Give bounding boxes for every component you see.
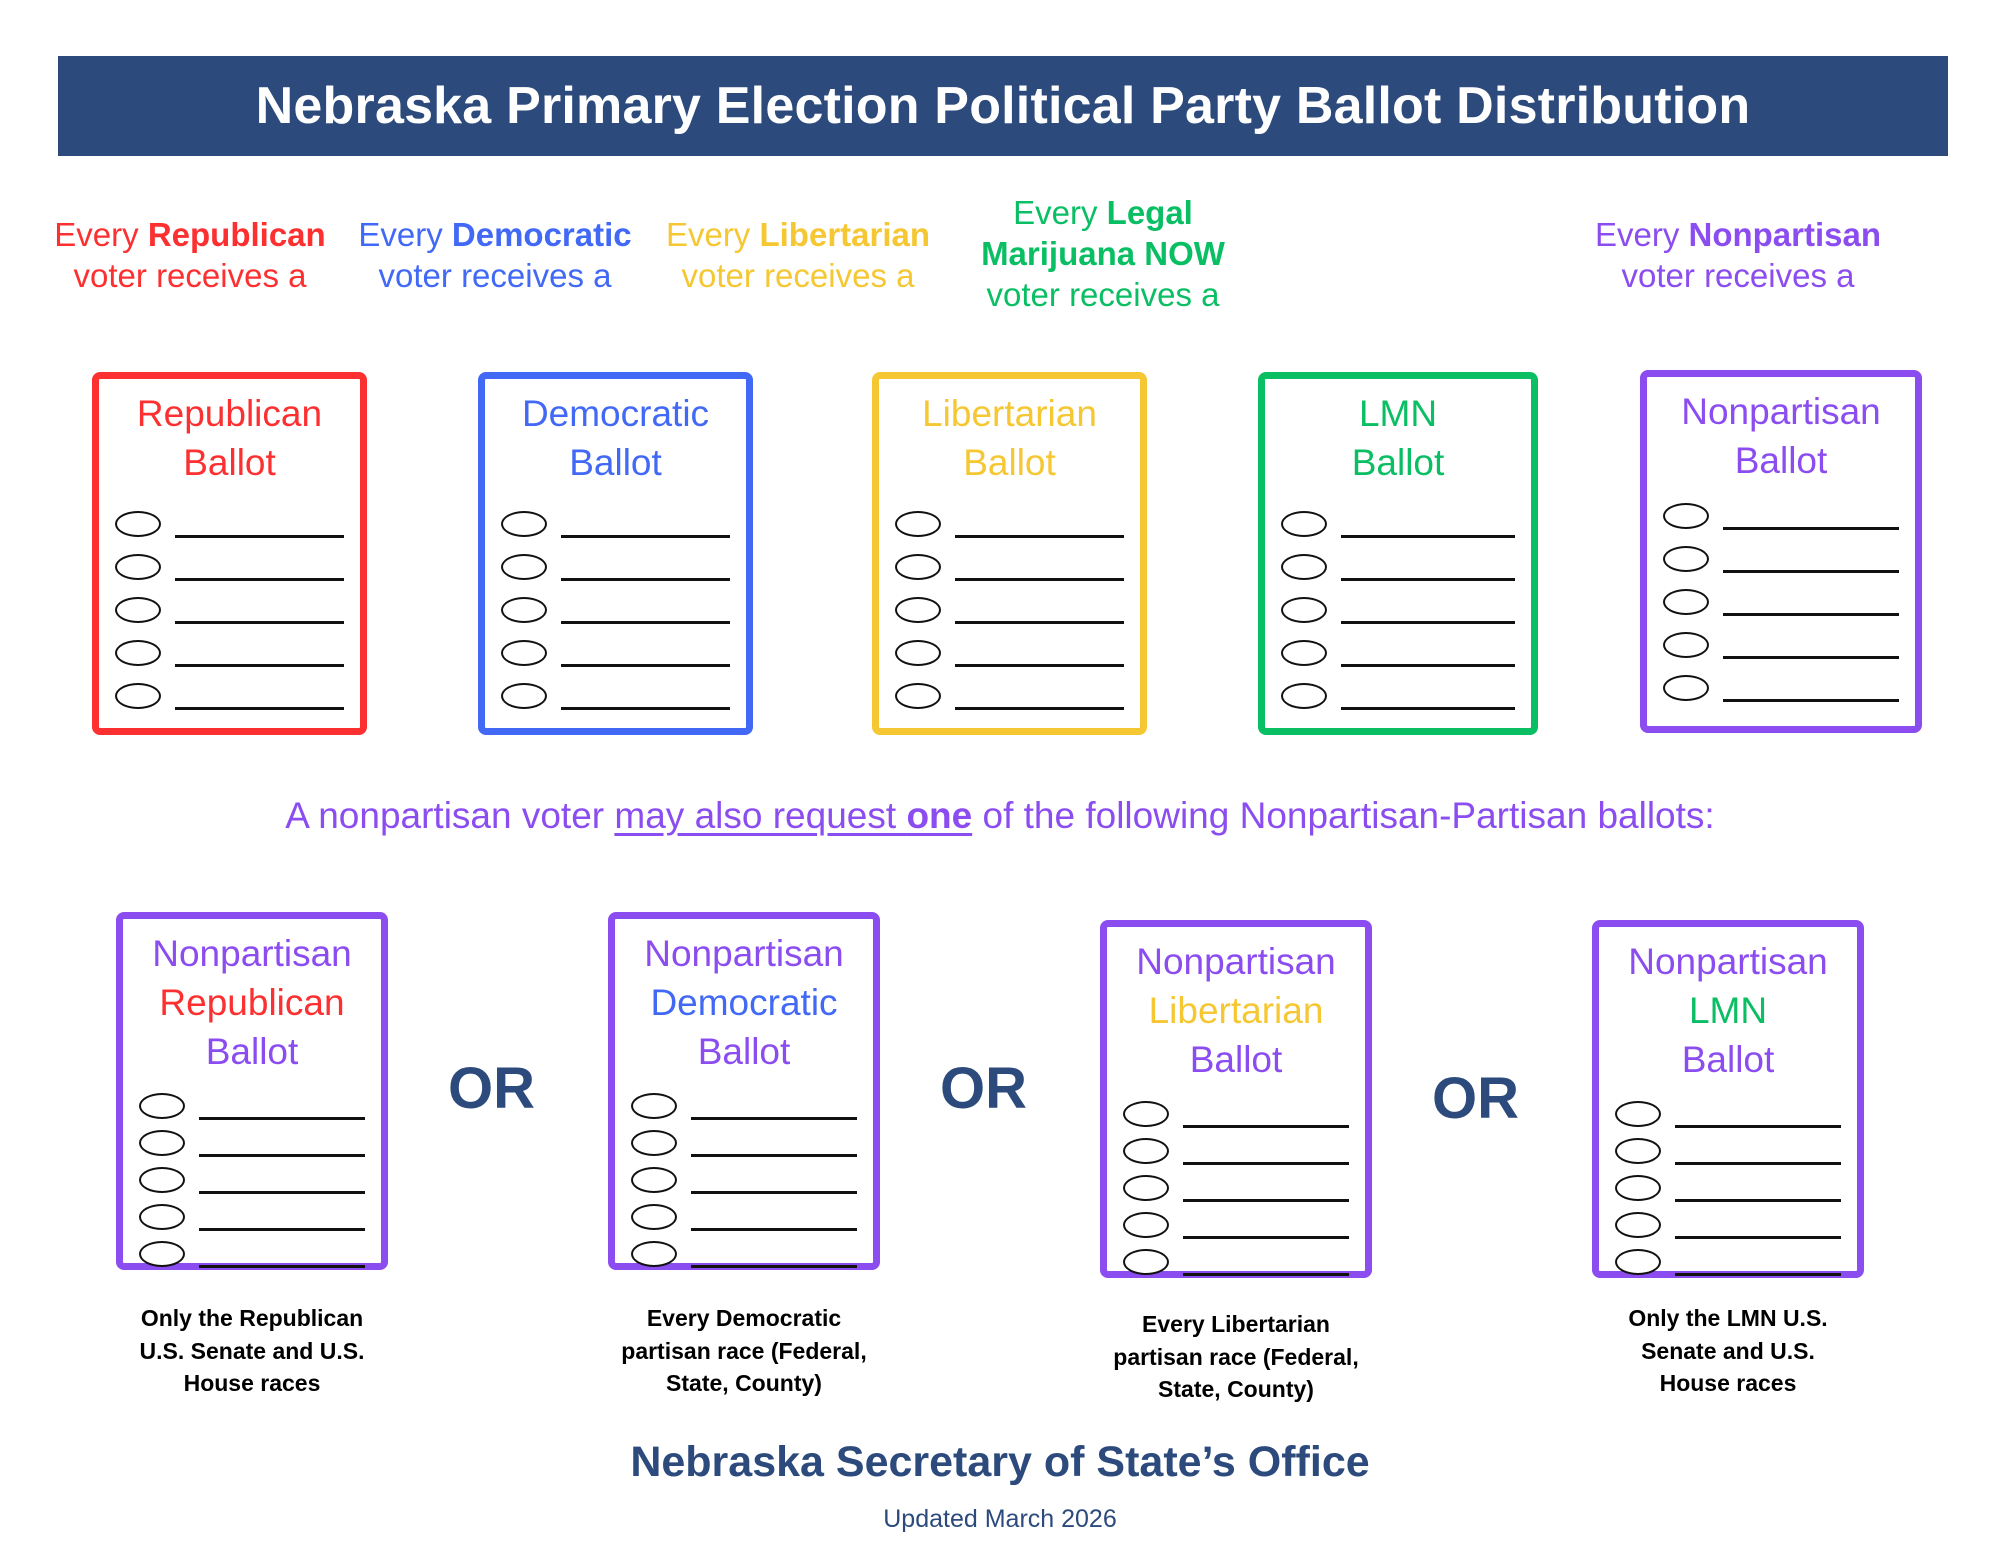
vote-bubble-icon[interactable] bbox=[1123, 1249, 1169, 1275]
vote-bubble-icon[interactable] bbox=[1663, 632, 1709, 658]
ballot-title-line: Nonpartisan bbox=[1647, 387, 1915, 436]
nonpartisan-lmn-ballot-choices bbox=[1599, 1099, 1857, 1284]
candidate-line bbox=[1723, 699, 1899, 702]
ballot-choice-row[interactable] bbox=[1107, 1210, 1365, 1247]
ballot-choice-row[interactable] bbox=[99, 595, 360, 638]
header-suffix: voter receives a bbox=[682, 257, 915, 294]
democratic-ballot: DemocraticBallot bbox=[478, 372, 753, 735]
ballot-choice-row[interactable] bbox=[485, 595, 746, 638]
header-suffix: voter receives a bbox=[379, 257, 612, 294]
vote-bubble-icon[interactable] bbox=[631, 1241, 677, 1267]
ballot-choice-row[interactable] bbox=[615, 1128, 873, 1165]
vote-bubble-icon[interactable] bbox=[115, 640, 161, 666]
candidate-line bbox=[1723, 570, 1899, 573]
libertarian-ballot: LibertarianBallot bbox=[872, 372, 1147, 735]
caption-line: State, County) bbox=[594, 1367, 894, 1400]
vote-bubble-icon[interactable] bbox=[501, 511, 547, 537]
ballot-choice-row[interactable] bbox=[1599, 1099, 1857, 1136]
ballot-title-line: Ballot bbox=[1107, 1035, 1365, 1084]
ballot-title-line: LMN bbox=[1599, 986, 1857, 1035]
ballot-caption-2: Every Democraticpartisan race (Federal,S… bbox=[594, 1302, 894, 1400]
caption-line: U.S. Senate and U.S. bbox=[102, 1335, 402, 1368]
top-header-legal-marijuana-now: Every Legal Marijuana NOWvoter receives … bbox=[948, 193, 1258, 316]
ballot-title-line: Libertarian bbox=[879, 389, 1140, 438]
vote-bubble-icon[interactable] bbox=[895, 511, 941, 537]
ballot-title-line: Nonpartisan bbox=[1599, 937, 1857, 986]
candidate-line bbox=[1675, 1273, 1841, 1276]
republican-ballot-choices bbox=[99, 509, 360, 724]
candidate-line bbox=[955, 664, 1124, 667]
infographic-page: Nebraska Primary Election Political Part… bbox=[0, 0, 2000, 1545]
candidate-line bbox=[1183, 1273, 1349, 1276]
vote-bubble-icon[interactable] bbox=[631, 1204, 677, 1230]
note-underlined-bold: one bbox=[906, 795, 972, 836]
or-separator-1: OR bbox=[448, 1055, 535, 1122]
republican-ballot: RepublicanBallot bbox=[92, 372, 367, 735]
ballot-choice-row[interactable] bbox=[123, 1091, 381, 1128]
candidate-line bbox=[175, 707, 344, 710]
candidate-line bbox=[1723, 613, 1899, 616]
ballot-choice-row[interactable] bbox=[99, 638, 360, 681]
ballot-choice-row[interactable] bbox=[485, 681, 746, 724]
ballot-choice-row[interactable] bbox=[879, 595, 1140, 638]
candidate-line bbox=[691, 1228, 857, 1231]
ballot-choice-row[interactable] bbox=[1265, 509, 1531, 552]
ballot-choice-row[interactable] bbox=[615, 1091, 873, 1128]
note-part-2: of the following Nonpartisan-Partisan ba… bbox=[972, 795, 1714, 836]
vote-bubble-icon[interactable] bbox=[115, 683, 161, 709]
ballot-title-line: Ballot bbox=[615, 1027, 873, 1076]
vote-bubble-icon[interactable] bbox=[895, 554, 941, 580]
caption-line: State, County) bbox=[1086, 1373, 1386, 1406]
nonpartisan-request-note: A nonpartisan voter may also request one… bbox=[0, 795, 2000, 837]
header-party-name: Democratic bbox=[452, 216, 632, 253]
ballot-choice-row[interactable] bbox=[1265, 681, 1531, 724]
candidate-line bbox=[1341, 578, 1515, 581]
vote-bubble-icon[interactable] bbox=[115, 597, 161, 623]
footer-organization: Nebraska Secretary of State’s Office bbox=[0, 1438, 2000, 1487]
vote-bubble-icon[interactable] bbox=[501, 640, 547, 666]
vote-bubble-icon[interactable] bbox=[1281, 640, 1327, 666]
vote-bubble-icon[interactable] bbox=[1663, 589, 1709, 615]
candidate-line bbox=[1675, 1199, 1841, 1202]
candidate-line bbox=[1341, 707, 1515, 710]
libertarian-ballot-title: LibertarianBallot bbox=[879, 379, 1140, 487]
ballot-title-line: Libertarian bbox=[1107, 986, 1365, 1035]
ballot-choice-row[interactable] bbox=[99, 681, 360, 724]
candidate-line bbox=[175, 621, 344, 624]
ballot-choice-row[interactable] bbox=[123, 1128, 381, 1165]
candidate-line bbox=[955, 621, 1124, 624]
vote-bubble-icon[interactable] bbox=[115, 511, 161, 537]
caption-line: Senate and U.S. bbox=[1578, 1335, 1878, 1368]
ballot-choice-row[interactable] bbox=[1599, 1247, 1857, 1284]
ballot-choice-row[interactable] bbox=[123, 1165, 381, 1202]
candidate-line bbox=[691, 1117, 857, 1120]
ballot-title-line: Ballot bbox=[123, 1027, 381, 1076]
note-underlined: may also request bbox=[614, 795, 906, 836]
nonpartisan-lmn-ballot-title: NonpartisanLMNBallot bbox=[1599, 927, 1857, 1085]
header-party-name: Nonpartisan bbox=[1689, 216, 1882, 253]
lmn-ballot-choices bbox=[1265, 509, 1531, 724]
ballot-choice-row[interactable] bbox=[123, 1239, 381, 1276]
header-prefix: Every bbox=[358, 216, 452, 253]
candidate-line bbox=[955, 535, 1124, 538]
ballot-choice-row[interactable] bbox=[485, 552, 746, 595]
candidate-line bbox=[691, 1265, 857, 1268]
vote-bubble-icon[interactable] bbox=[1615, 1101, 1661, 1127]
nonpartisan-democratic-ballot-choices bbox=[615, 1091, 873, 1276]
ballot-choice-row[interactable] bbox=[615, 1202, 873, 1239]
candidate-line bbox=[199, 1117, 365, 1120]
ballot-title-line: Nonpartisan bbox=[123, 929, 381, 978]
ballot-title-line: Nonpartisan bbox=[1107, 937, 1365, 986]
caption-line: House races bbox=[102, 1367, 402, 1400]
ballot-choice-row[interactable] bbox=[1647, 673, 1915, 716]
candidate-line bbox=[955, 578, 1124, 581]
libertarian-ballot-choices bbox=[879, 509, 1140, 724]
vote-bubble-icon[interactable] bbox=[115, 554, 161, 580]
ballot-choice-row[interactable] bbox=[485, 638, 746, 681]
note-part-1: A nonpartisan voter bbox=[285, 795, 614, 836]
vote-bubble-icon[interactable] bbox=[1123, 1175, 1169, 1201]
caption-line: partisan race (Federal, bbox=[1086, 1341, 1386, 1374]
vote-bubble-icon[interactable] bbox=[1123, 1138, 1169, 1164]
vote-bubble-icon[interactable] bbox=[139, 1093, 185, 1119]
ballot-choice-row[interactable] bbox=[1265, 638, 1531, 681]
vote-bubble-icon[interactable] bbox=[501, 554, 547, 580]
candidate-line bbox=[1341, 664, 1515, 667]
vote-bubble-icon[interactable] bbox=[501, 683, 547, 709]
or-separator-3: OR bbox=[1432, 1065, 1519, 1132]
candidate-line bbox=[175, 578, 344, 581]
ballot-choice-row[interactable] bbox=[879, 681, 1140, 724]
candidate-line bbox=[1183, 1162, 1349, 1165]
vote-bubble-icon[interactable] bbox=[895, 640, 941, 666]
ballot-title-line: LMN bbox=[1265, 389, 1531, 438]
header-prefix: Every bbox=[666, 216, 760, 253]
lmn-ballot: LMNBallot bbox=[1258, 372, 1538, 735]
ballot-choice-row[interactable] bbox=[1265, 552, 1531, 595]
vote-bubble-icon[interactable] bbox=[1615, 1138, 1661, 1164]
vote-bubble-icon[interactable] bbox=[1123, 1212, 1169, 1238]
ballot-choice-row[interactable] bbox=[615, 1239, 873, 1276]
ballot-choice-row[interactable] bbox=[1107, 1173, 1365, 1210]
header-prefix: Every bbox=[1595, 216, 1689, 253]
vote-bubble-icon[interactable] bbox=[1281, 511, 1327, 537]
vote-bubble-icon[interactable] bbox=[895, 683, 941, 709]
candidate-line bbox=[691, 1154, 857, 1157]
ballot-caption-3: Every Libertarianpartisan race (Federal,… bbox=[1086, 1308, 1386, 1406]
candidate-line bbox=[561, 707, 730, 710]
top-header-democratic: Every Democraticvoter receives a bbox=[345, 215, 645, 297]
vote-bubble-icon[interactable] bbox=[1281, 554, 1327, 580]
ballot-choice-row[interactable] bbox=[1599, 1210, 1857, 1247]
nonpartisan-ballot-title: NonpartisanBallot bbox=[1647, 377, 1915, 485]
republican-ballot-title: RepublicanBallot bbox=[99, 379, 360, 487]
ballot-choice-row[interactable] bbox=[1647, 587, 1915, 630]
vote-bubble-icon[interactable] bbox=[1615, 1175, 1661, 1201]
caption-line: House races bbox=[1578, 1367, 1878, 1400]
candidate-line bbox=[1341, 535, 1515, 538]
ballot-choice-row[interactable] bbox=[99, 509, 360, 552]
ballot-choice-row[interactable] bbox=[123, 1202, 381, 1239]
nonpartisan-democratic-ballot: NonpartisanDemocraticBallot bbox=[608, 912, 880, 1270]
vote-bubble-icon[interactable] bbox=[1615, 1249, 1661, 1275]
or-separator-2: OR bbox=[940, 1055, 1027, 1122]
candidate-line bbox=[1183, 1125, 1349, 1128]
ballot-title-line: Ballot bbox=[1599, 1035, 1857, 1084]
candidate-line bbox=[561, 621, 730, 624]
candidate-line bbox=[1675, 1236, 1841, 1239]
democratic-ballot-title: DemocraticBallot bbox=[485, 379, 746, 487]
ballot-title-line: Nonpartisan bbox=[615, 929, 873, 978]
header-prefix: Every bbox=[1013, 194, 1107, 231]
ballot-title-line: Ballot bbox=[99, 438, 360, 487]
ballot-title-line: Ballot bbox=[485, 438, 746, 487]
candidate-line bbox=[561, 578, 730, 581]
vote-bubble-icon[interactable] bbox=[1663, 503, 1709, 529]
ballot-choice-row[interactable] bbox=[1107, 1247, 1365, 1284]
vote-bubble-icon[interactable] bbox=[1281, 683, 1327, 709]
nonpartisan-lmn-ballot: NonpartisanLMNBallot bbox=[1592, 920, 1864, 1278]
candidate-line bbox=[199, 1154, 365, 1157]
ballot-choice-row[interactable] bbox=[485, 509, 746, 552]
header-party-name: Libertarian bbox=[759, 216, 930, 253]
ballot-choice-row[interactable] bbox=[879, 552, 1140, 595]
ballot-title-line: Ballot bbox=[1647, 436, 1915, 485]
nonpartisan-democratic-ballot-title: NonpartisanDemocraticBallot bbox=[615, 919, 873, 1077]
nonpartisan-republican-ballot-title: NonpartisanRepublicanBallot bbox=[123, 919, 381, 1077]
vote-bubble-icon[interactable] bbox=[631, 1130, 677, 1156]
vote-bubble-icon[interactable] bbox=[139, 1130, 185, 1156]
vote-bubble-icon[interactable] bbox=[139, 1204, 185, 1230]
vote-bubble-icon[interactable] bbox=[139, 1167, 185, 1193]
candidate-line bbox=[691, 1191, 857, 1194]
nonpartisan-libertarian-ballot: NonpartisanLibertarianBallot bbox=[1100, 920, 1372, 1278]
vote-bubble-icon[interactable] bbox=[631, 1093, 677, 1119]
vote-bubble-icon[interactable] bbox=[1663, 546, 1709, 572]
candidate-line bbox=[1183, 1199, 1349, 1202]
ballot-choice-row[interactable] bbox=[1647, 630, 1915, 673]
ballot-choice-row[interactable] bbox=[1107, 1099, 1365, 1136]
candidate-line bbox=[175, 535, 344, 538]
top-header-republican: Every Republicanvoter receives a bbox=[40, 215, 340, 297]
ballot-choice-row[interactable] bbox=[1599, 1136, 1857, 1173]
top-header-libertarian: Every Libertarianvoter receives a bbox=[648, 215, 948, 297]
header-suffix: voter receives a bbox=[74, 257, 307, 294]
ballot-title-line: Democratic bbox=[615, 978, 873, 1027]
candidate-line bbox=[1723, 527, 1899, 530]
ballot-choice-row[interactable] bbox=[99, 552, 360, 595]
vote-bubble-icon[interactable] bbox=[1663, 675, 1709, 701]
vote-bubble-icon[interactable] bbox=[1281, 597, 1327, 623]
ballot-choice-row[interactable] bbox=[879, 638, 1140, 681]
ballot-title-line: Republican bbox=[123, 978, 381, 1027]
candidate-line bbox=[1183, 1236, 1349, 1239]
candidate-line bbox=[1723, 656, 1899, 659]
candidate-line bbox=[955, 707, 1124, 710]
title-bar: Nebraska Primary Election Political Part… bbox=[58, 56, 1948, 156]
candidate-line bbox=[175, 664, 344, 667]
header-suffix: voter receives a bbox=[987, 276, 1220, 313]
top-header-nonpartisan: Every Nonpartisanvoter receives a bbox=[1558, 215, 1918, 297]
ballot-choice-row[interactable] bbox=[1265, 595, 1531, 638]
caption-line: partisan race (Federal, bbox=[594, 1335, 894, 1368]
ballot-title-line: Ballot bbox=[1265, 438, 1531, 487]
nonpartisan-republican-ballot: NonpartisanRepublicanBallot bbox=[116, 912, 388, 1270]
candidate-line bbox=[1675, 1162, 1841, 1165]
ballot-choice-row[interactable] bbox=[1599, 1173, 1857, 1210]
candidate-line bbox=[199, 1228, 365, 1231]
nonpartisan-republican-ballot-choices bbox=[123, 1091, 381, 1276]
ballot-choice-row[interactable] bbox=[1647, 544, 1915, 587]
vote-bubble-icon[interactable] bbox=[1615, 1212, 1661, 1238]
caption-line: Only the LMN U.S. bbox=[1578, 1302, 1878, 1335]
vote-bubble-icon[interactable] bbox=[501, 597, 547, 623]
ballot-choice-row[interactable] bbox=[879, 509, 1140, 552]
vote-bubble-icon[interactable] bbox=[631, 1167, 677, 1193]
header-party-name: Republican bbox=[148, 216, 326, 253]
candidate-line bbox=[561, 664, 730, 667]
candidate-line bbox=[1675, 1125, 1841, 1128]
caption-line: Every Democratic bbox=[594, 1302, 894, 1335]
vote-bubble-icon[interactable] bbox=[139, 1241, 185, 1267]
ballot-choice-row[interactable] bbox=[615, 1165, 873, 1202]
ballot-title-line: Democratic bbox=[485, 389, 746, 438]
caption-line: Every Libertarian bbox=[1086, 1308, 1386, 1341]
nonpartisan-ballot: NonpartisanBallot bbox=[1640, 370, 1922, 733]
footer-updated-date: Updated March 2026 bbox=[0, 1505, 2000, 1534]
candidate-line bbox=[1341, 621, 1515, 624]
vote-bubble-icon[interactable] bbox=[895, 597, 941, 623]
ballot-choice-row[interactable] bbox=[1647, 501, 1915, 544]
candidate-line bbox=[561, 535, 730, 538]
democratic-ballot-choices bbox=[485, 509, 746, 724]
ballot-choice-row[interactable] bbox=[1107, 1136, 1365, 1173]
nonpartisan-ballot-choices bbox=[1647, 501, 1915, 716]
nonpartisan-libertarian-ballot-choices bbox=[1107, 1099, 1365, 1284]
candidate-line bbox=[199, 1265, 365, 1268]
ballot-title-line: Republican bbox=[99, 389, 360, 438]
page-title: Nebraska Primary Election Political Part… bbox=[256, 76, 1751, 136]
ballot-caption-4: Only the LMN U.S.Senate and U.S.House ra… bbox=[1578, 1302, 1878, 1400]
ballot-caption-1: Only the RepublicanU.S. Senate and U.S.H… bbox=[102, 1302, 402, 1400]
top-header-row: Every Republicanvoter receives aEvery De… bbox=[0, 215, 2000, 345]
header-prefix: Every bbox=[54, 216, 148, 253]
vote-bubble-icon[interactable] bbox=[1123, 1101, 1169, 1127]
nonpartisan-libertarian-ballot-title: NonpartisanLibertarianBallot bbox=[1107, 927, 1365, 1085]
ballot-title-line: Ballot bbox=[879, 438, 1140, 487]
lmn-ballot-title: LMNBallot bbox=[1265, 379, 1531, 487]
caption-line: Only the Republican bbox=[102, 1302, 402, 1335]
header-suffix: voter receives a bbox=[1622, 257, 1855, 294]
candidate-line bbox=[199, 1191, 365, 1194]
